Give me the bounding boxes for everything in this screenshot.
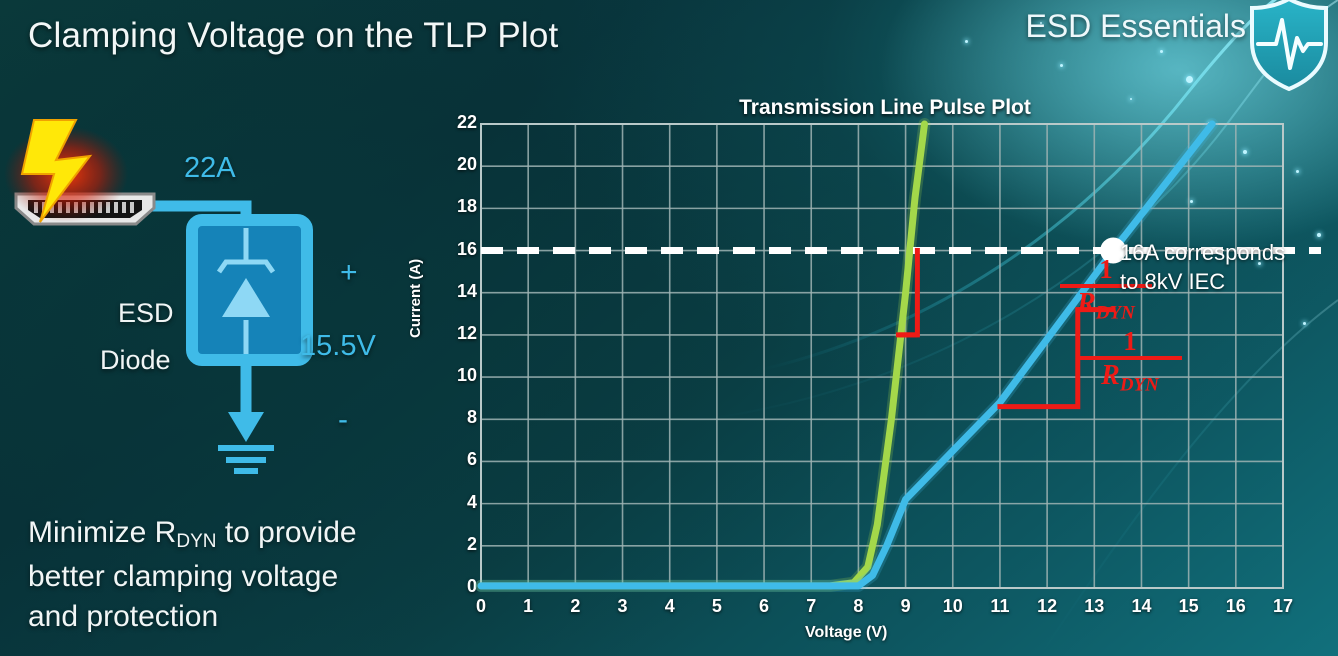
circuit-voltage-label: 15.5V: [300, 330, 376, 363]
star-particle: [1060, 64, 1063, 67]
chart-y-tick-label: 6: [433, 449, 477, 470]
chart-x-tick-label: 14: [1126, 596, 1156, 617]
iec-annotation: 16A corresponds to 8kV IEC: [1120, 238, 1338, 296]
brand-title: ESD Essentials: [1025, 8, 1246, 45]
caption-line1-sub: DYN: [176, 531, 216, 552]
chart-x-tick-label: 8: [843, 596, 873, 617]
fraction-denominator-sub: DYN: [1096, 303, 1135, 324]
chart-x-tick-label: 12: [1032, 596, 1062, 617]
chart-y-axis-label: Current (A): [407, 259, 424, 338]
chart-x-tick-label: 2: [560, 596, 590, 617]
chart-x-tick-label: 15: [1174, 596, 1204, 617]
chart-y-tick-label: 22: [433, 112, 477, 133]
circuit-plus-label: +: [340, 256, 358, 290]
iec-annotation-line2: to 8kV IEC: [1120, 267, 1338, 296]
chart-x-tick-label: 9: [891, 596, 921, 617]
chart-x-tick-label: 11: [985, 596, 1015, 617]
caption-line1-pre: Minimize R: [28, 516, 176, 549]
chart-x-tick-label: 16: [1221, 596, 1251, 617]
caption-line2: better clamping voltage: [28, 560, 338, 593]
circuit-device-label-line1: ESD: [118, 298, 174, 329]
tlp-chart: Transmission Line Pulse Plot Current (A)…: [415, 88, 1338, 656]
chart-y-tick-label: 20: [433, 154, 477, 175]
chart-x-tick-label: 5: [702, 596, 732, 617]
chart-x-tick-label: 3: [608, 596, 638, 617]
star-particle: [1160, 50, 1163, 53]
chart-y-tick-label: 0: [433, 576, 477, 597]
chart-y-tick-label: 4: [433, 492, 477, 513]
fraction-numerator: 1: [1078, 328, 1182, 354]
iec-annotation-line1: 16A corresponds: [1120, 238, 1338, 267]
chart-x-tick-label: 17: [1268, 596, 1298, 617]
chart-y-tick-label: 14: [433, 281, 477, 302]
slide-root: Clamping Voltage on the TLP Plot ESD Ess…: [0, 0, 1338, 656]
circuit-minus-label: -: [338, 403, 348, 437]
caption-line3: and protection: [28, 600, 218, 633]
chart-y-tick-label: 18: [433, 196, 477, 217]
caption-line1-post: to provide: [216, 516, 356, 549]
star-particle: [1186, 76, 1193, 83]
fraction-denominator: RDYN: [1078, 361, 1182, 401]
fraction-denominator-sub: DYN: [1120, 375, 1159, 396]
lightning-bolt-icon: [4, 118, 144, 228]
summary-caption: Minimize RDYN to provide better clamping…: [28, 513, 448, 637]
shield-heartbeat-icon: [1246, 0, 1332, 92]
chart-x-tick-label: 7: [796, 596, 826, 617]
chart-y-tick-label: 16: [433, 239, 477, 260]
chart-x-tick-label: 0: [466, 596, 496, 617]
fraction-denominator-base: R: [1077, 288, 1096, 319]
chart-x-tick-label: 13: [1079, 596, 1109, 617]
fraction-bar: [1078, 356, 1182, 360]
esd-diode-circuit-diagram: 22A 15.5V + - ESD Diode: [0, 140, 430, 500]
slope-annotation-blue-fraction: 1 RDYN: [1078, 328, 1182, 401]
chart-title: Transmission Line Pulse Plot: [675, 96, 1095, 120]
chart-y-tick-label: 8: [433, 407, 477, 428]
chart-x-tick-label: 10: [938, 596, 968, 617]
chart-y-tick-label: 12: [433, 323, 477, 344]
chart-x-tick-label: 1: [513, 596, 543, 617]
chart-x-tick-label: 6: [749, 596, 779, 617]
circuit-current-label: 22A: [184, 152, 236, 185]
circuit-device-label-line2: Diode: [100, 345, 171, 376]
star-particle: [965, 40, 968, 43]
chart-y-tick-label: 10: [433, 365, 477, 386]
page-title: Clamping Voltage on the TLP Plot: [28, 16, 558, 56]
chart-x-tick-label: 4: [655, 596, 685, 617]
chart-y-tick-label: 2: [433, 534, 477, 555]
fraction-denominator-base: R: [1101, 360, 1120, 391]
chart-x-axis-label: Voltage (V): [805, 624, 887, 642]
